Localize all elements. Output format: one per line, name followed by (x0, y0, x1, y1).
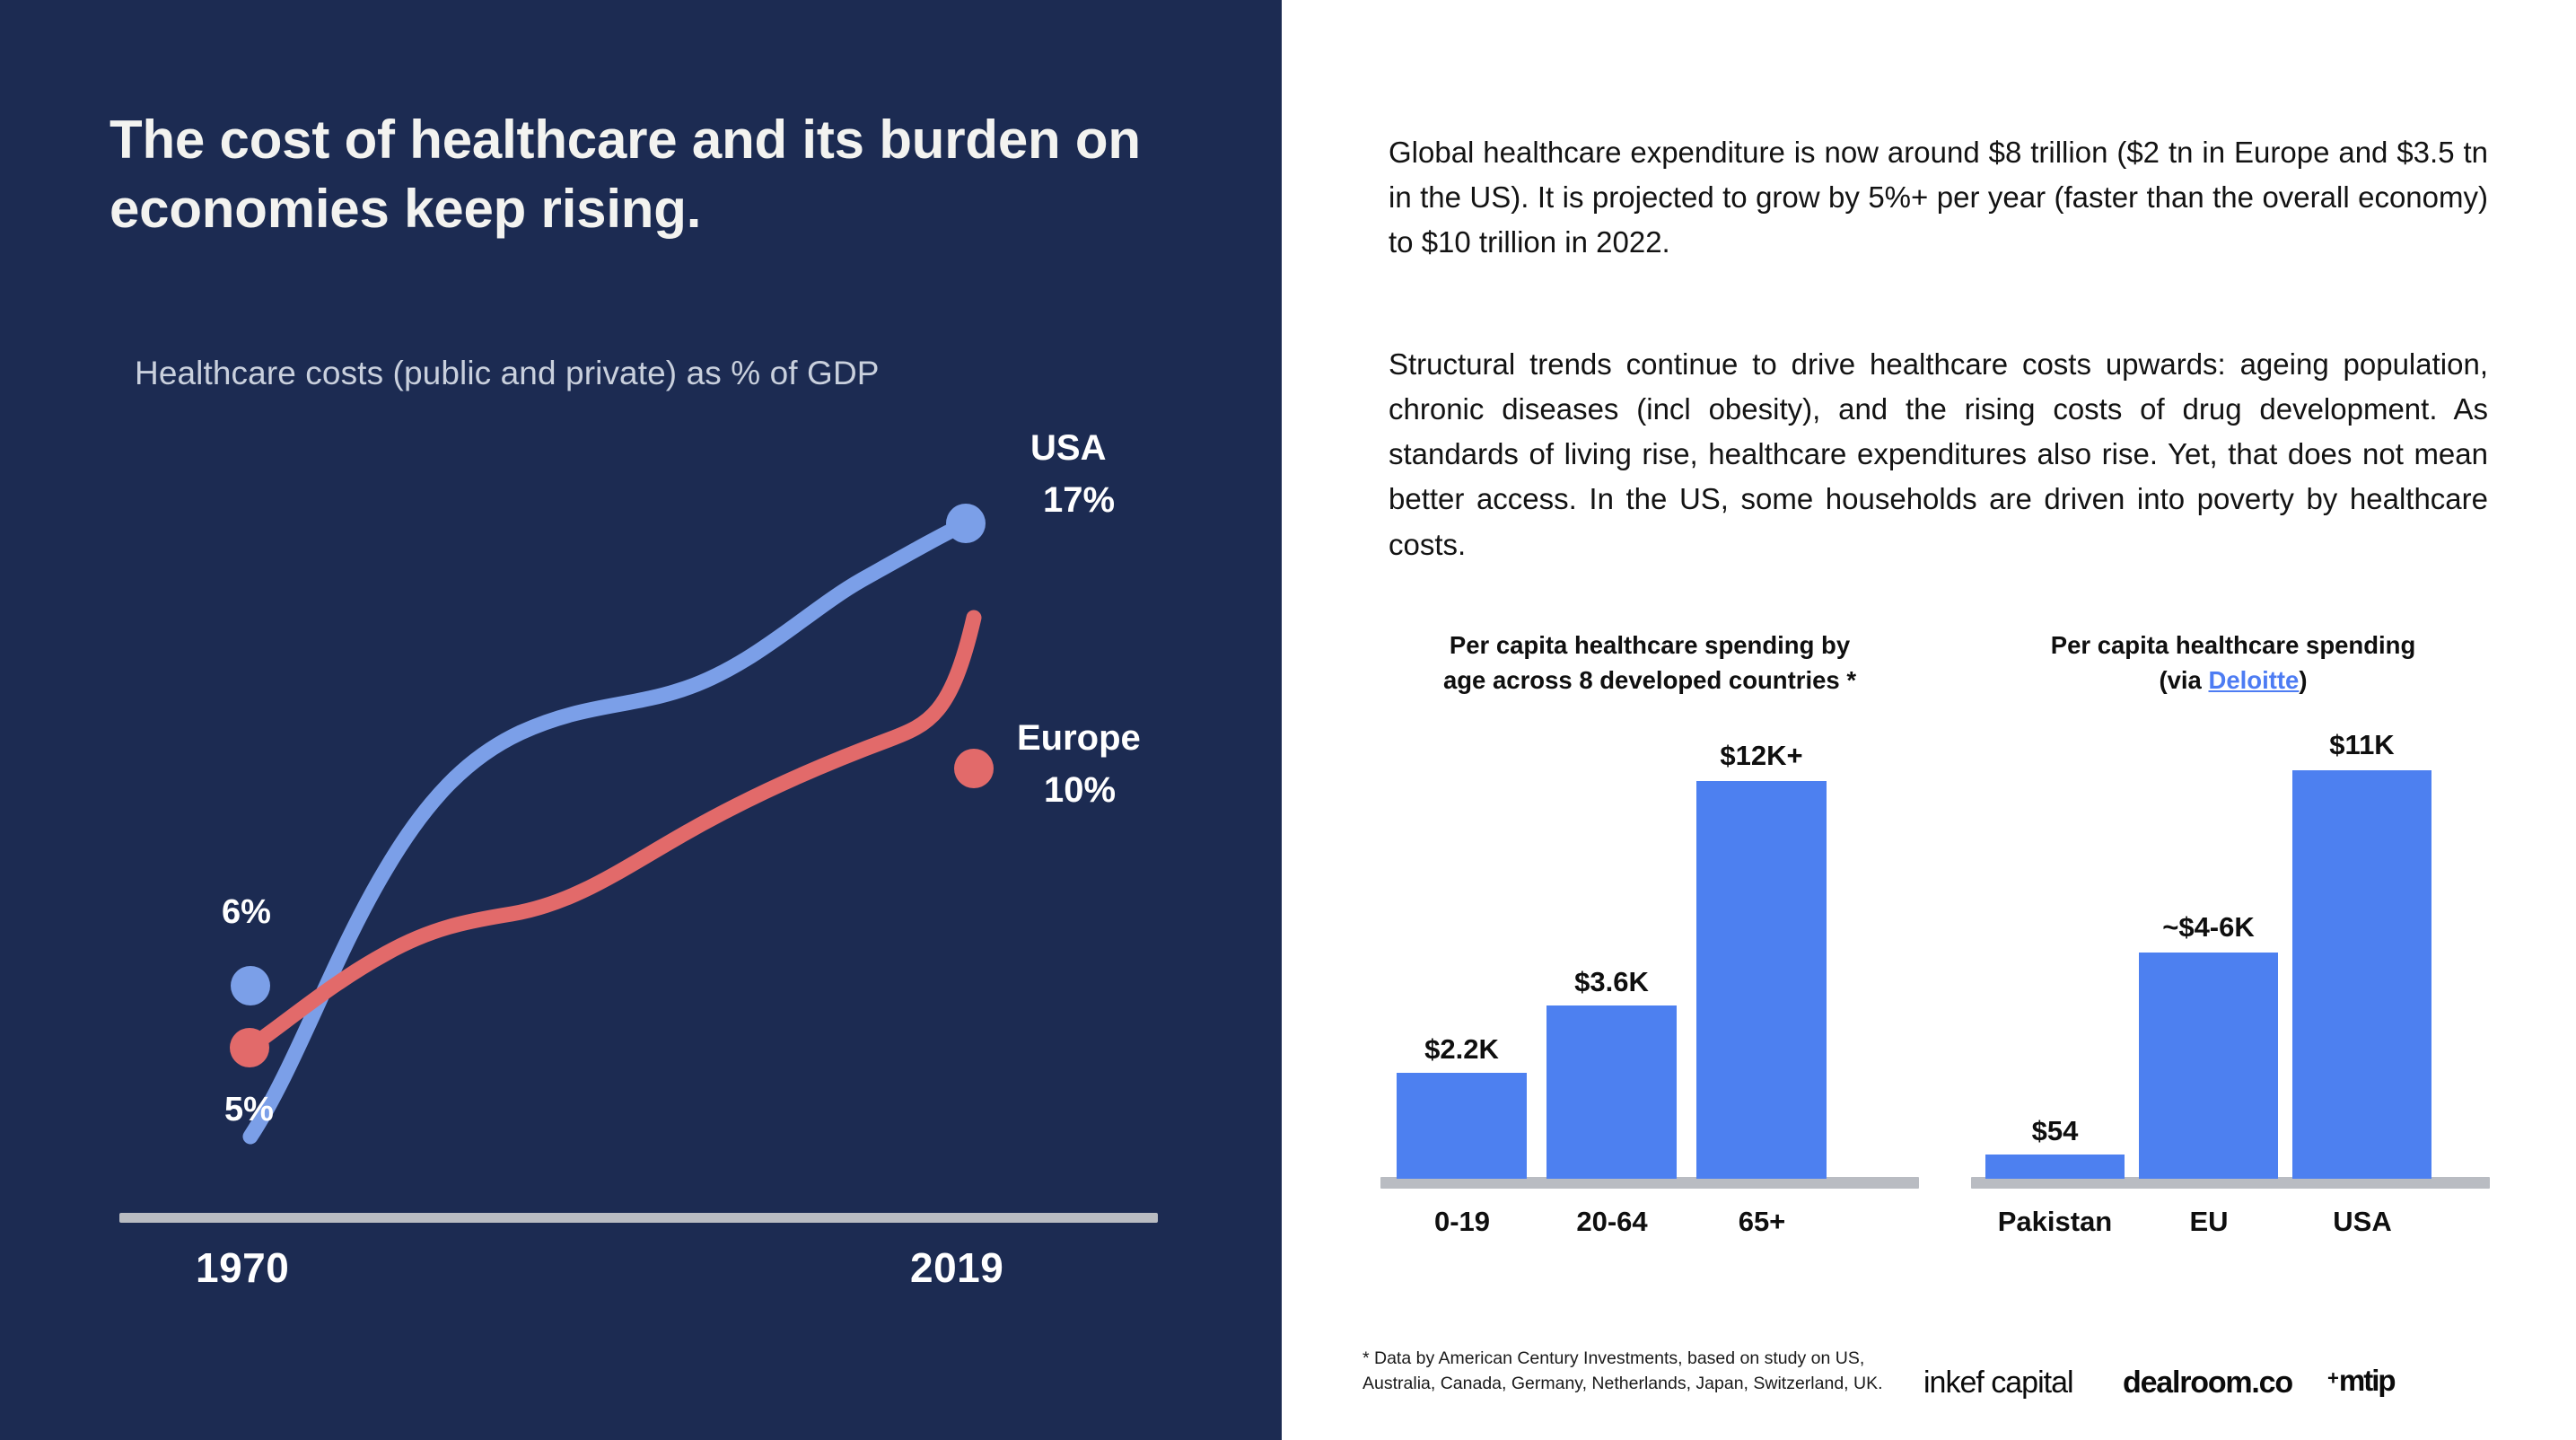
bar-category-20-64: 20-64 (1527, 1206, 1697, 1238)
mtip-logo: +mtip (2327, 1364, 2395, 1398)
bar-category-eu: EU (2128, 1206, 2290, 1238)
bar-value-0-19: $2.2K (1397, 1033, 1527, 1066)
bar-value-usa: $11K (2292, 729, 2431, 761)
logo-row: inkef capital dealroom.co +mtip (1923, 1351, 2480, 1405)
bar-value-eu: ~$4-6K (2139, 911, 2278, 944)
point-europe-end (954, 749, 994, 788)
bar-20-64[interactable]: $3.6K 20-64 (1546, 1005, 1677, 1179)
bar-category-0-19: 0-19 (1386, 1206, 1538, 1238)
bar-value-65-plus: $12K+ (1696, 740, 1827, 772)
bar-chart-by-region-title-prefix: (via (2159, 666, 2208, 694)
bar-chart-by-age: Per capita healthcare spending by age ac… (1371, 628, 1928, 1275)
bar-65-plus[interactable]: $12K+ 65+ (1696, 781, 1827, 1179)
footnote: * Data by American Century Investments, … (1362, 1347, 1919, 1396)
bar-chart-by-region: Per capita healthcare spending (via Delo… (1964, 628, 2502, 1275)
bar-pakistan[interactable]: $54 Pakistan (1985, 1155, 2125, 1179)
body-paragraph-2: Structural trends continue to drive heal… (1389, 342, 2488, 567)
series-value-europe-end: 10% (1044, 770, 1116, 811)
bar-usa[interactable]: $11K USA (2292, 770, 2431, 1179)
line-series-usa (250, 523, 966, 1137)
line-chart-x-axis (119, 1213, 1158, 1223)
dealroom-logo: dealroom.co (2123, 1365, 2292, 1400)
x-tick-2019: 2019 (910, 1243, 1003, 1292)
bar-eu[interactable]: ~$4-6K EU (2139, 953, 2278, 1179)
mtip-plus-glyph: + (2327, 1367, 2339, 1390)
left-hero-panel: The cost of healthcare and its burden on… (0, 0, 1282, 1440)
bar-0-19[interactable]: $2.2K 0-19 (1397, 1073, 1527, 1179)
bar-value-20-64: $3.6K (1546, 966, 1677, 998)
bar-category-65-plus: 65+ (1686, 1206, 1838, 1238)
point-usa-end (946, 504, 986, 543)
point-europe-start (230, 1028, 269, 1067)
body-paragraph-1: Global healthcare expenditure is now aro… (1389, 130, 2488, 265)
bar-chart-by-region-title: Per capita healthcare spending (via Delo… (1964, 628, 2502, 698)
bar-chart-by-region-title-suffix: ) (2299, 666, 2307, 694)
right-content-panel: Global healthcare expenditure is now aro… (1282, 0, 2576, 1440)
mtip-wordmark: mtip (2339, 1364, 2395, 1398)
bar-value-pakistan: $54 (1985, 1115, 2125, 1147)
bar-chart-by-age-plot: $2.2K 0-19 $3.6K 20-64 $12K+ 65+ (1371, 722, 1928, 1189)
point-usa-start (231, 966, 270, 1005)
bar-chart-by-region-plot: $54 Pakistan ~$4-6K EU $11K USA (1964, 722, 2502, 1189)
bar-chart-by-age-title-line2: age across 8 developed countries * (1443, 666, 1856, 694)
bar-category-usa: USA (2282, 1206, 2443, 1238)
x-tick-1970: 1970 (196, 1243, 289, 1292)
bar-chart-by-region-title-line1: Per capita healthcare spending (2051, 631, 2416, 659)
line-series-europe (250, 618, 974, 1048)
bar-category-pakistan: Pakistan (1963, 1206, 2147, 1238)
series-label-europe: Europe (1017, 718, 1141, 759)
bar-chart-by-age-title-line1: Per capita healthcare spending by (1450, 631, 1850, 659)
series-label-usa: USA (1030, 428, 1106, 469)
series-value-usa-end: 17% (1043, 480, 1115, 521)
deloitte-link[interactable]: Deloitte (2209, 666, 2300, 694)
series-value-usa-start: 6% (222, 893, 271, 932)
inkef-capital-logo: inkef capital (1923, 1365, 2073, 1400)
bar-chart-by-age-title: Per capita healthcare spending by age ac… (1371, 628, 1928, 698)
series-value-europe-start: 5% (224, 1091, 274, 1129)
